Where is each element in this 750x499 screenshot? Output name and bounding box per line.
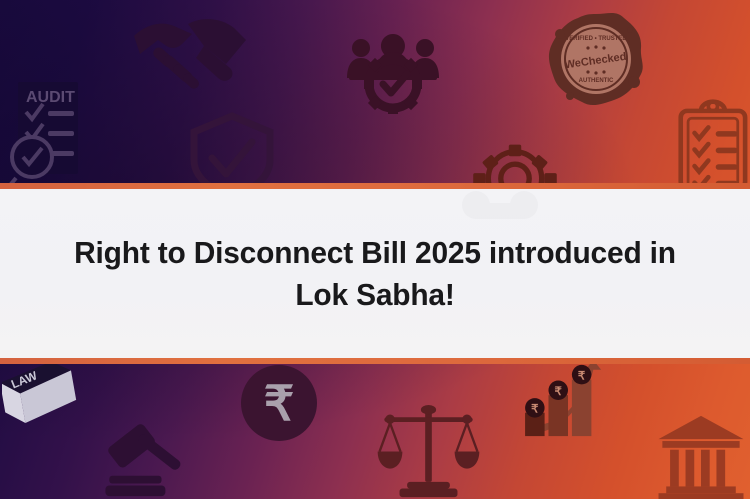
headline-band: Right to Disconnect Bill 2025 introduced… [0, 189, 750, 358]
rupee-symbol-bar1: ₹ [531, 403, 539, 416]
rupee-symbol: ₹ [264, 378, 295, 431]
rupee-symbol-bar3: ₹ [578, 370, 586, 383]
divider-bottom [0, 358, 750, 364]
promo-banner: AUDIT [0, 0, 750, 499]
rupee-coin-icon: ₹ [238, 362, 320, 444]
page-title: Right to Disconnect Bill 2025 introduced… [37, 232, 713, 316]
growth-chart-rupee-icon: ₹ ₹ ₹ [520, 362, 615, 440]
gavel-icon [100, 412, 195, 499]
band-ghost-icon [430, 185, 570, 227]
rupee-symbol-bar2: ₹ [555, 385, 563, 398]
law-book-icon: LAW [2, 362, 80, 442]
bank-building-icon [655, 414, 747, 499]
divider-top [0, 183, 750, 189]
balance-scales-icon [376, 404, 481, 499]
